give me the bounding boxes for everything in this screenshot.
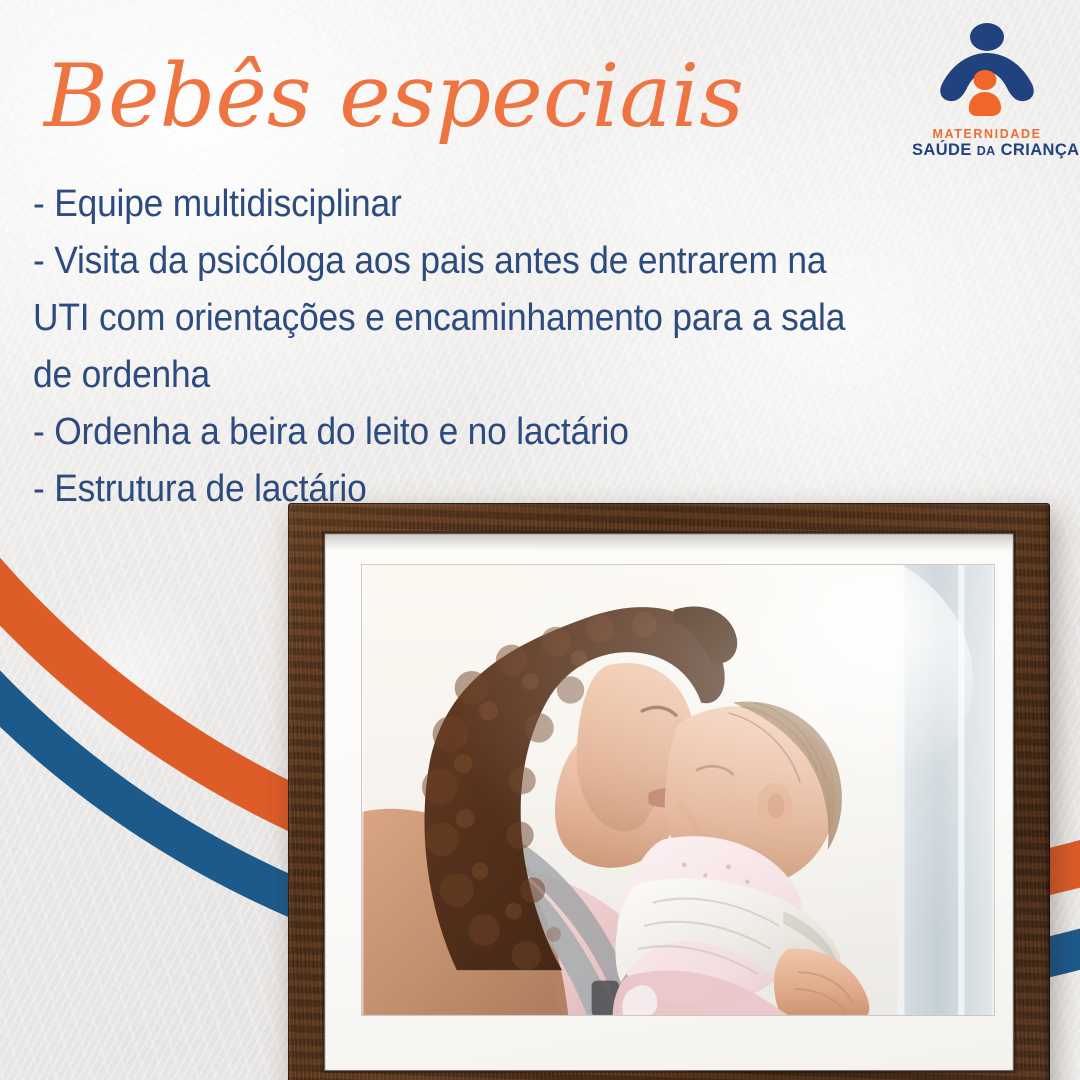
logo-bottom-text: SAÚDE DA CRIANÇA [912,141,1062,161]
bullet-line: - Equipe multidisciplinar [33,176,963,233]
bullet-line: UTI com orientações e encaminhamento par… [33,290,963,347]
logo-top-text: MATERNIDADE [912,128,1062,141]
logo-word-da: DA [977,144,996,158]
page-title-text: Bebês especiais [42,45,744,147]
brand-logo: MATERNIDADE SAÚDE DA CRIANÇA [912,22,1062,161]
photo-image [362,565,994,1015]
bullet-line: - Visita da psicóloga aos pais antes de … [33,233,963,290]
bullet-line: - Ordenha a beira do leito e no lactário [33,404,963,461]
mother-and-child-logo-mark [932,22,1042,122]
poster-canvas: Bebês especiais - Equipe multidisciplina… [0,0,1080,1080]
bullet-list: - Equipe multidisciplinar - Visita da ps… [33,176,1033,518]
framed-photo [288,503,1050,1080]
page-title: Bebês especiais [44,44,764,154]
bullet-line: de ordenha [33,347,963,404]
logo-word-crianca: CRIANÇA [1001,141,1080,159]
logo-word-saude: SAÚDE [912,141,972,159]
